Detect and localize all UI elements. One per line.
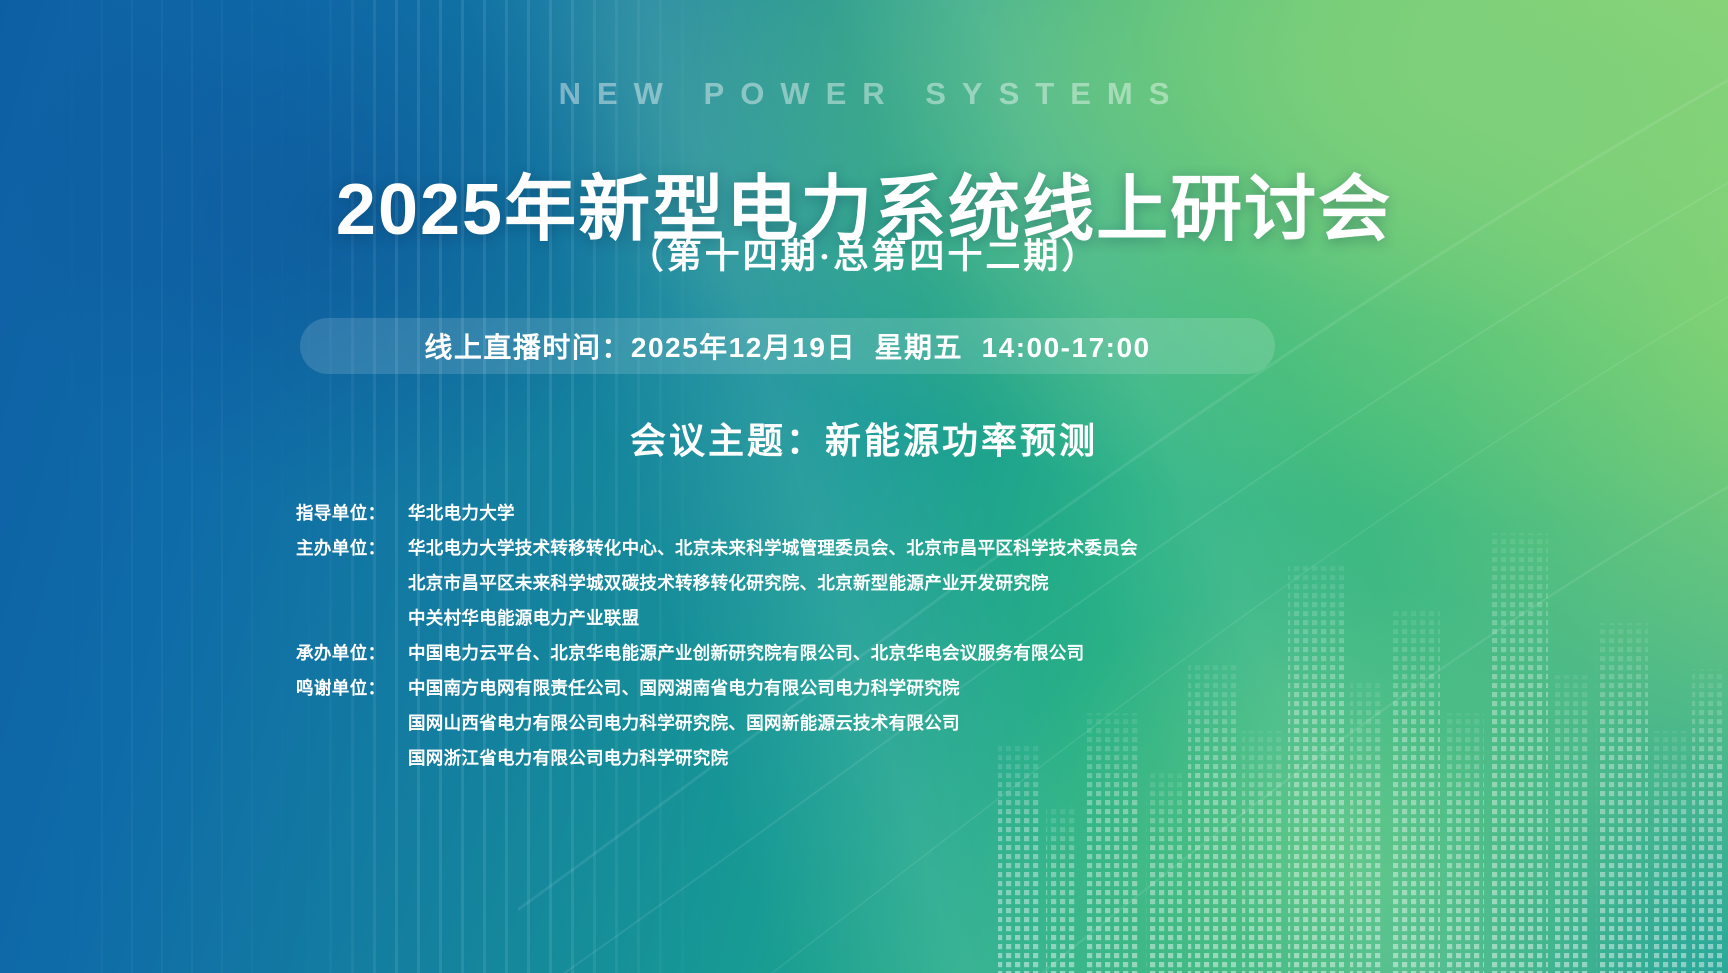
organizer-value: 华北电力大学技术转移转化中心、北京未来科学城管理委员会、北京市昌平区科学技术委员…: [408, 533, 1138, 564]
organizer-label: 主办单位：: [296, 533, 408, 564]
organizer-row: 承办单位： 中国电力云平台、北京华电能源产业创新研究院有限公司、北京华电会议服务…: [296, 638, 1446, 669]
organizer-row: 鸣谢单位： 中国南方电网有限责任公司、国网湖南省电力有限公司电力科学研究院: [296, 673, 1446, 704]
poster-canvas: NEW POWER SYSTEMS 2025年新型电力系统线上研讨会 （第十四期…: [0, 0, 1728, 973]
meeting-theme: 会议主题：新能源功率预测: [0, 412, 1728, 464]
live-time-banner: 线上直播时间：2025年12月19日 星期五 14:00-17:00: [300, 318, 1275, 374]
organizer-row: 主办单位： 华北电力大学技术转移转化中心、北京未来科学城管理委员会、北京市昌平区…: [296, 533, 1446, 564]
subtitle-episode: （第十四期·总第四十二期）: [0, 228, 1728, 279]
organizer-row: 指导单位： 华北电力大学: [296, 498, 1446, 529]
organizer-label: 鸣谢单位：: [296, 673, 408, 704]
live-time-text: 线上直播时间：2025年12月19日 星期五 14:00-17:00: [424, 326, 1150, 366]
organizer-value: 中国南方电网有限责任公司、国网湖南省电力有限公司电力科学研究院: [408, 673, 960, 704]
poster-content: NEW POWER SYSTEMS 2025年新型电力系统线上研讨会 （第十四期…: [0, 0, 1728, 973]
organizer-value: 北京市昌平区未来科学城双碳技术转移转化研究院、北京新型能源产业开发研究院: [408, 568, 1049, 599]
organizer-label: 承办单位：: [296, 638, 408, 669]
organizer-label: 指导单位：: [296, 498, 408, 529]
organizer-row: 主办单位： 北京市昌平区未来科学城双碳技术转移转化研究院、北京新型能源产业开发研…: [296, 568, 1446, 599]
organizer-row: 主办单位： 中关村华电能源电力产业联盟: [296, 603, 1446, 634]
organizer-value: 国网浙江省电力有限公司电力科学研究院: [408, 743, 728, 774]
organizer-value: 华北电力大学: [408, 498, 515, 529]
organizer-row: 鸣谢单位： 国网山西省电力有限公司电力科学研究院、国网新能源云技术有限公司: [296, 708, 1446, 739]
organizer-value: 中国电力云平台、北京华电能源产业创新研究院有限公司、北京华电会议服务有限公司: [408, 638, 1084, 669]
organizer-row: 鸣谢单位： 国网浙江省电力有限公司电力科学研究院: [296, 743, 1446, 774]
organizer-value: 国网山西省电力有限公司电力科学研究院、国网新能源云技术有限公司: [408, 708, 960, 739]
kicker-text: NEW POWER SYSTEMS: [0, 76, 1728, 112]
organizer-value: 中关村华电能源电力产业联盟: [408, 603, 639, 634]
organizer-list: 指导单位： 华北电力大学 主办单位： 华北电力大学技术转移转化中心、北京未来科学…: [296, 498, 1446, 778]
